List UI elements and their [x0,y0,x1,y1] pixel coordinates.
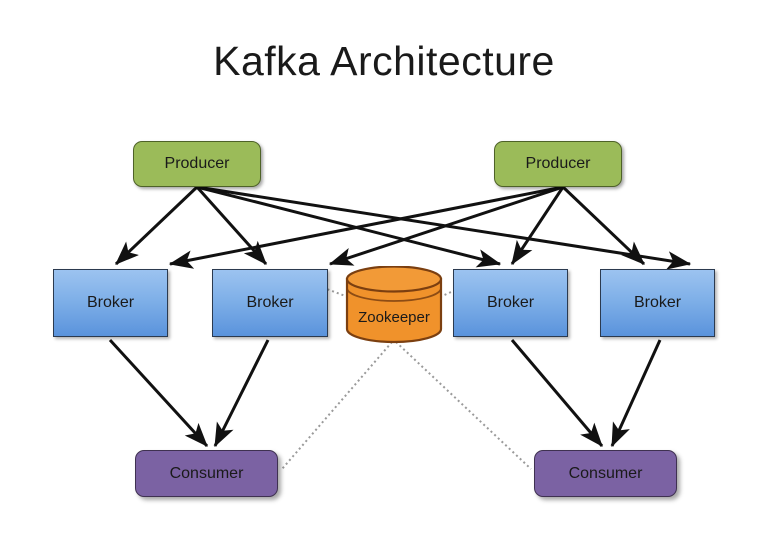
consumer-2-label: Consumer [569,465,643,483]
edge-broker1-consumer1 [110,340,207,446]
edge-zookeeper-consumer2 [396,342,531,469]
node-broker-4[interactable]: Broker [600,269,715,337]
broker-1-label: Broker [87,294,134,312]
node-consumer-1[interactable]: Consumer [135,450,278,497]
consumer-1-label: Consumer [170,465,244,483]
broker-2-label: Broker [246,294,293,312]
database-cylinder-icon [345,266,443,344]
node-broker-1[interactable]: Broker [53,269,168,337]
node-zookeeper[interactable]: Zookeeper [345,266,443,344]
edges-broker-consumer [110,340,660,446]
broker-4-label: Broker [634,294,681,312]
node-producer-1[interactable]: Producer [133,141,261,187]
node-producer-2[interactable]: Producer [494,141,622,187]
producer-2-label: Producer [526,155,591,173]
broker-3-label: Broker [487,294,534,312]
node-consumer-2[interactable]: Consumer [534,450,677,497]
node-broker-2[interactable]: Broker [212,269,328,337]
diagram-canvas: Kafka Architecture [0,0,768,554]
edge-broker4-consumer2 [612,340,660,446]
edge-broker3-consumer2 [512,340,602,446]
edge-producer1-broker3 [197,187,500,264]
edge-producer1-broker1 [116,187,197,264]
node-broker-3[interactable]: Broker [453,269,568,337]
edge-producer2-broker4 [563,187,644,264]
producer-1-label: Producer [165,155,230,173]
edge-producer2-broker3 [512,187,563,264]
edge-broker2-consumer1 [215,340,268,446]
edge-zookeeper-consumer1 [282,342,392,469]
